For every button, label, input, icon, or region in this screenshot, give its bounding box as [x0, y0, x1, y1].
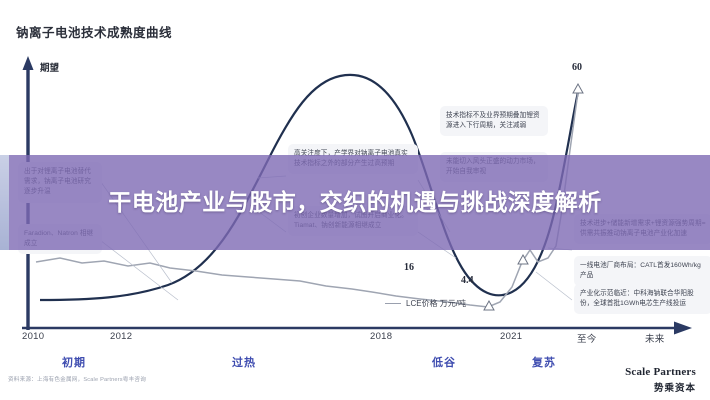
data-label-lce-trough: 4.4 [461, 275, 474, 286]
legend-swatch-lce [385, 303, 401, 305]
y-axis-label: 期望 [40, 60, 59, 74]
overlay-left-edge [0, 155, 9, 250]
brand-block: Scale Partners 势乘资本 [625, 366, 696, 394]
headline-text: 干电池产业与股市，交织的机遇与挑战深度解析 [55, 187, 655, 217]
data-label-lce-mid: 16 [404, 262, 414, 273]
x-tick-2010: 2010 [22, 331, 44, 342]
phase-label-early: 初期 [62, 354, 86, 370]
annotation-recovery-demo: 产业化示范临近：中科海钠联合华阳股份，全球首批1GWh电芯生产线投运 [574, 284, 710, 314]
x-tick-now: 至今 [577, 331, 597, 345]
data-label-lce-peak: 60 [572, 62, 582, 73]
x-tick-2018: 2018 [370, 331, 392, 342]
screenshot-root: 钠离子电池技术成熟度曲线 [0, 0, 710, 400]
phase-label-recovery: 复苏 [532, 354, 556, 370]
phase-label-trough: 低谷 [432, 354, 456, 370]
source-note: 资料来源：上海有色金属网，Scale Partners粤丰咨询 [8, 375, 146, 383]
annotation-trough-reason: 技术指标不及业界预期叠加锂资源进入下行周期，关注减弱 [440, 106, 548, 136]
x-tick-future: 未来 [645, 331, 665, 345]
chart-legend: LCE价格 万元/吨 [385, 298, 466, 309]
brand-name-en: Scale Partners [625, 366, 696, 378]
x-tick-2021: 2021 [500, 331, 522, 342]
legend-label-lce: LCE价格 万元/吨 [406, 298, 466, 309]
brand-name-cn: 势乘资本 [625, 380, 696, 394]
x-tick-2012: 2012 [110, 331, 132, 342]
annotation-recovery-catl: 一线电池厂商布局：CATL首发160Wh/kg产品 [574, 256, 710, 286]
headline-overlay: 干电池产业与股市，交织的机遇与挑战深度解析 [0, 155, 710, 250]
phase-label-hype: 过热 [232, 354, 256, 370]
